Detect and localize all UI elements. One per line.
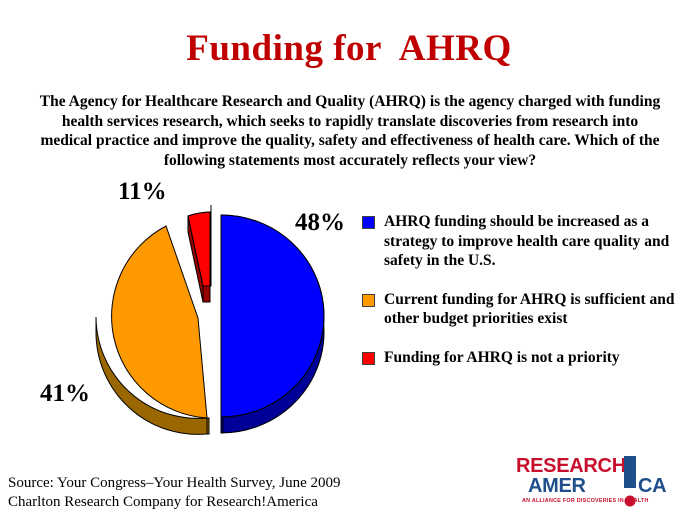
legend-item-current-funding-sufficient: Current funding for AHRQ is sufficient a… bbox=[362, 290, 692, 329]
pie-slice-orange-side-edge bbox=[207, 418, 209, 434]
legend-swatch-orange-icon bbox=[362, 294, 375, 307]
legend-item-increase-funding: AHRQ funding should be increased as a st… bbox=[362, 212, 692, 271]
source-line-1: Source: Your Congress–Your Health Survey… bbox=[8, 474, 341, 493]
pie-slice-red-side-base bbox=[203, 286, 210, 302]
legend-label-increase-funding: AHRQ funding should be increased as a st… bbox=[384, 212, 692, 271]
page-title: Funding for AHRQ bbox=[0, 28, 698, 70]
logo-word-amer: AMER bbox=[528, 475, 587, 497]
logo-word-ca: CA bbox=[638, 475, 666, 497]
legend-item-not-a-priority: Funding for AHRQ is not a priority bbox=[362, 348, 692, 368]
survey-question-text: The Agency for Healthcare Research and Q… bbox=[36, 92, 664, 170]
legend-label-not-a-priority: Funding for AHRQ is not a priority bbox=[384, 348, 620, 368]
source-line-2: Charlton Research Company for Research!A… bbox=[8, 493, 341, 512]
pie-slice-blue bbox=[221, 215, 324, 417]
chart-legend: AHRQ funding should be increased as a st… bbox=[362, 212, 692, 386]
logo-word-research: RESEARCH bbox=[516, 455, 626, 477]
pie-chart: 11% 48% 41% bbox=[48, 185, 348, 450]
pie-label-11-percent: 11% bbox=[118, 179, 167, 205]
pie-label-48-percent: 48% bbox=[295, 210, 345, 236]
logo-exclamation-bar-icon bbox=[624, 456, 636, 488]
logo-tagline: AN ALLIANCE FOR DISCOVERIES IN HEALTH bbox=[522, 498, 649, 504]
slide-canvas: Funding for AHRQ The Agency for Healthca… bbox=[0, 0, 698, 524]
pie-slice-blue-side-left bbox=[221, 417, 223, 433]
source-note: Source: Your Congress–Your Health Survey… bbox=[8, 474, 341, 512]
legend-swatch-red-icon bbox=[362, 352, 375, 365]
legend-label-current-funding-sufficient: Current funding for AHRQ is sufficient a… bbox=[384, 290, 692, 329]
legend-swatch-blue-icon bbox=[362, 216, 375, 229]
research-america-logo: RESEARCH AMER CA AN ALLIANCE FOR DISCOVE… bbox=[498, 450, 684, 512]
pie-label-41-percent: 41% bbox=[40, 381, 90, 407]
